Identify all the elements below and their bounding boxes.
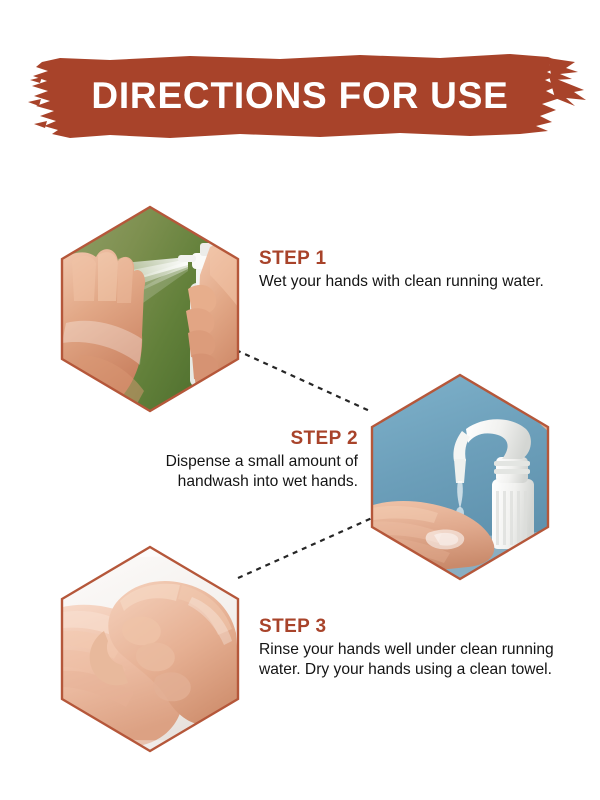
step-1-label: STEP 1 [259,248,589,270]
step-1-body: Wet your hands with clean running water. [259,272,589,293]
step-2-hex-image [370,373,550,581]
step-1-hex-image [60,205,240,413]
poster-root: DIRECTIONS FOR USE [0,0,600,800]
step-1-text-block: STEP 1 Wet your hands with clean running… [259,248,589,292]
step-3-label: STEP 3 [259,616,579,638]
step-3-hex-image [60,545,240,753]
step-3-body: Rinse your hands well under clean runnin… [259,640,579,681]
header-banner [0,46,600,146]
connector-step1-to-step2 [236,350,372,412]
step-2-text-block: STEP 2 Dispense a small amount of handwa… [108,428,358,493]
step-2-body: Dispense a small amount of handwash into… [108,452,358,493]
step-3-text-block: STEP 3 Rinse your hands well under clean… [259,616,579,681]
connector-step2-to-step3 [238,518,372,578]
step-2-label: STEP 2 [108,428,358,450]
